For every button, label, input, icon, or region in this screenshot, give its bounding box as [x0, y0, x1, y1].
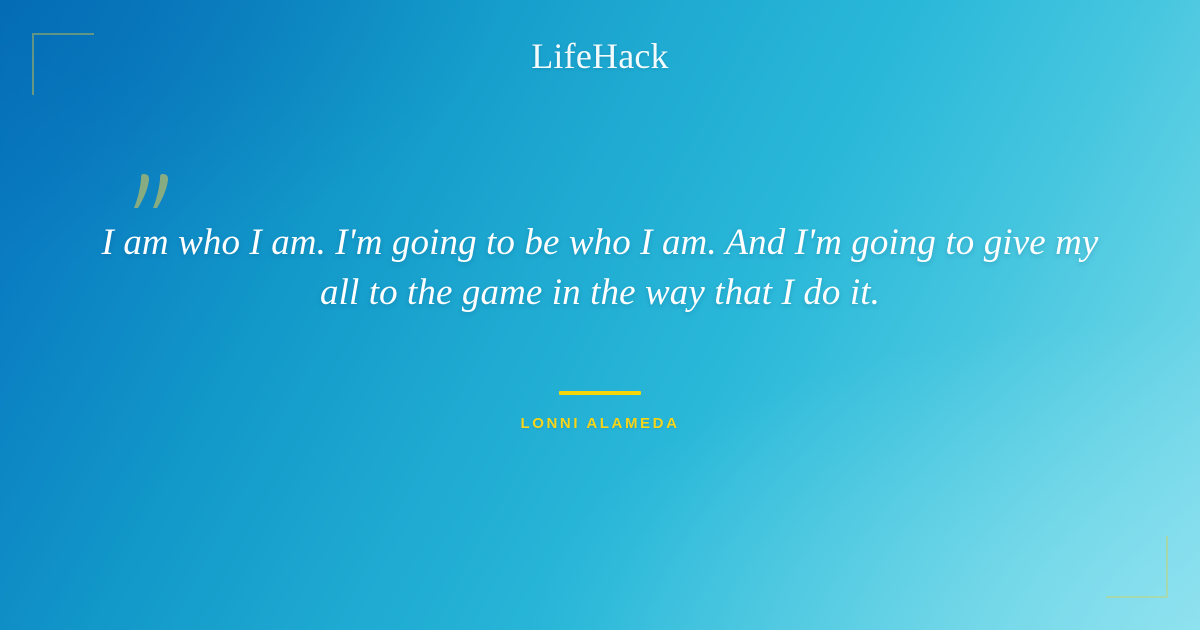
quote-card: LifeHack I am who I am. I'm going to be …	[0, 0, 1200, 630]
quote-author-name: LONNI ALAMEDA	[520, 415, 679, 432]
attribution-container: LONNI ALAMEDA	[0, 415, 1200, 433]
brand-logo-lifehack: LifeHack	[531, 38, 669, 74]
quote-divider	[559, 391, 641, 395]
brand-logo-container: LifeHack	[0, 38, 1200, 74]
corner-bracket-bottom-right-icon	[1106, 536, 1168, 598]
quote-text: I am who I am. I'm going to be who I am.…	[60, 218, 1140, 318]
quotation-mark-icon	[133, 170, 179, 218]
divider-container	[0, 382, 1200, 400]
quote-block: I am who I am. I'm going to be who I am.…	[60, 170, 1140, 318]
